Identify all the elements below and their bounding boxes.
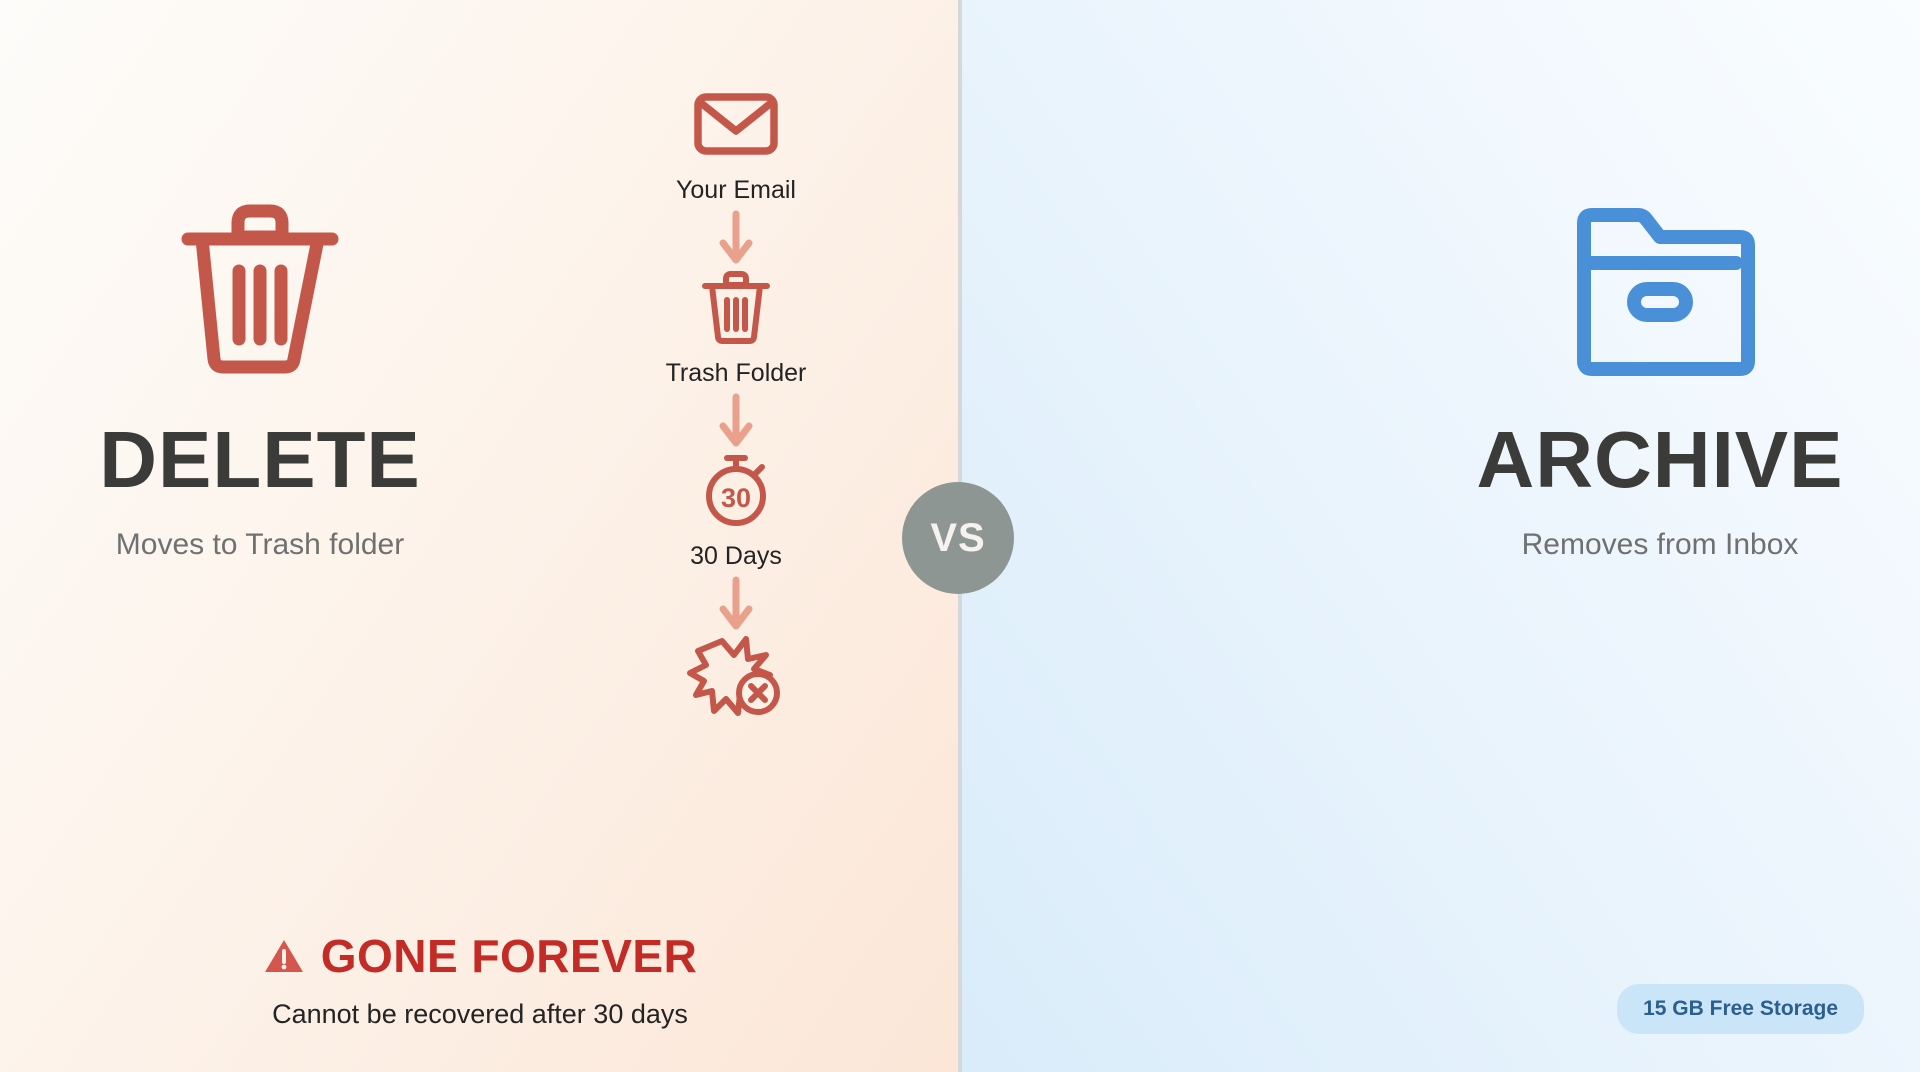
archive-subtitle: Removes from Inbox <box>1522 528 1799 562</box>
delete-panel: DELETE Moves to Trash folder Your Email <box>0 0 960 1072</box>
warning-triangle-icon <box>263 937 305 975</box>
delete-flow: Your Email <box>586 86 886 721</box>
archive-panel: ARCHIVE Removes from Inbox Your Email <box>960 0 1920 1072</box>
gone-forever-headline: GONE FOREVER <box>263 933 698 979</box>
flow-arrow-down-icon <box>716 392 756 450</box>
flow-step-30-days: 30 30 Days <box>690 452 782 571</box>
archive-folder-icon <box>1572 196 1748 378</box>
flow-step-your-email: Your Email <box>676 86 796 205</box>
flow-step-trash-folder: Trash Folder <box>666 269 807 388</box>
infographic-canvas: DELETE Moves to Trash folder Your Email <box>0 0 1920 1072</box>
flow-label: 30 Days <box>690 542 782 571</box>
flow-arrow-down-icon <box>716 209 756 267</box>
verdict-detail: Cannot be recovered after 30 days <box>272 999 688 1030</box>
trash-can-icon <box>176 196 344 378</box>
trash-can-icon <box>700 269 772 345</box>
stopwatch-value: 30 <box>721 483 751 513</box>
page-title: ARCHIVE <box>1476 420 1843 500</box>
vs-label: VS <box>930 516 985 561</box>
burst-x-icon <box>688 635 784 721</box>
delete-subtitle: Moves to Trash folder <box>116 528 404 562</box>
vs-badge: VS <box>902 482 1014 594</box>
storage-badge: 15 GB Free Storage <box>1617 984 1864 1034</box>
flow-label: Your Email <box>676 176 796 205</box>
stopwatch-30-icon: 30 <box>697 452 775 528</box>
flow-label: Trash Folder <box>666 359 807 388</box>
verdict-headline-text: GONE FOREVER <box>321 933 698 979</box>
delete-verdict: GONE FOREVER Cannot be recovered after 3… <box>0 933 960 1030</box>
archive-hero: ARCHIVE Removes from Inbox <box>1400 196 1920 562</box>
envelope-icon <box>693 86 779 162</box>
delete-hero: DELETE Moves to Trash folder <box>0 196 520 562</box>
page-title: DELETE <box>99 420 421 500</box>
flow-arrow-down-icon <box>716 575 756 633</box>
